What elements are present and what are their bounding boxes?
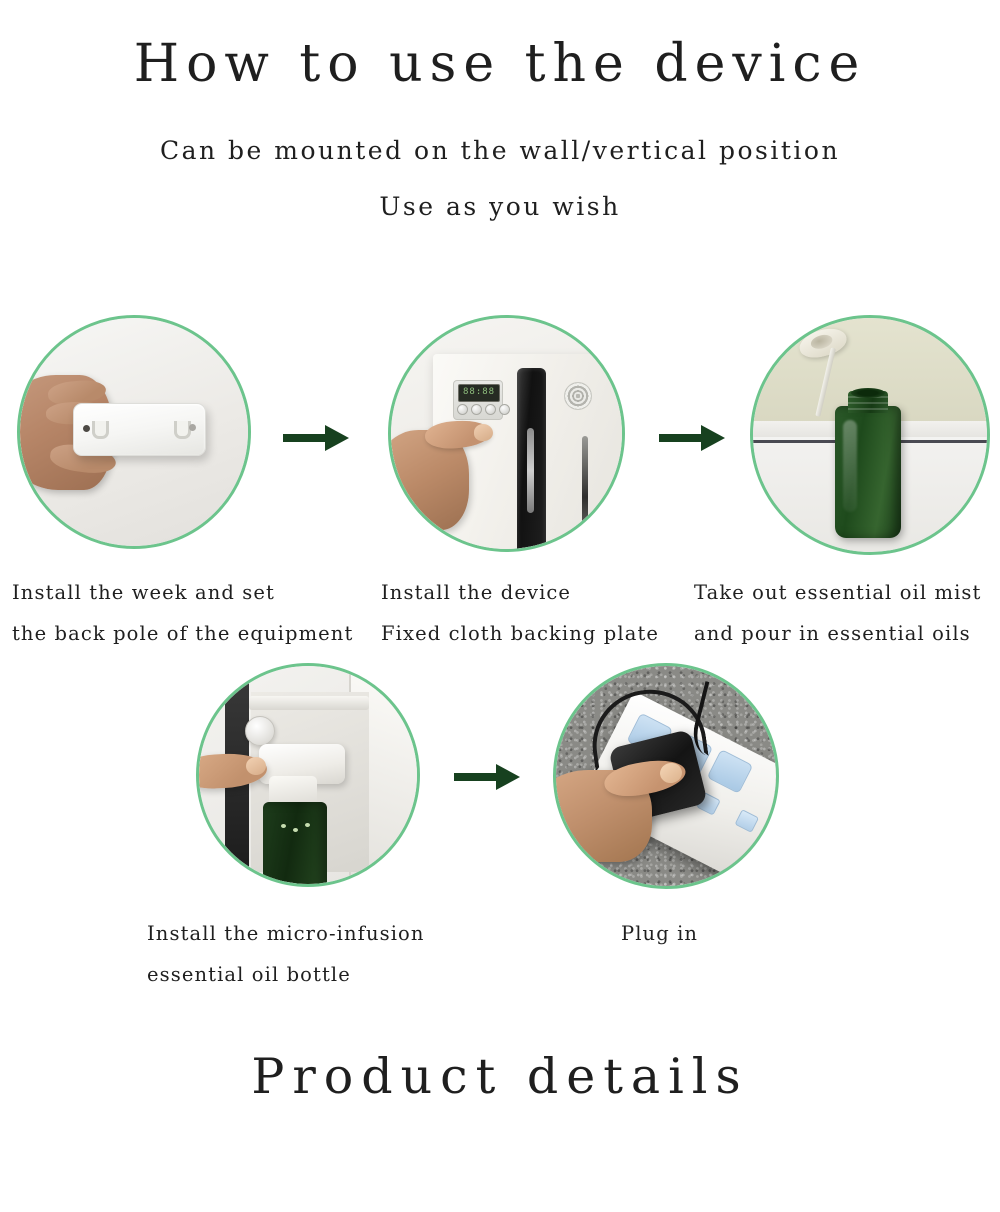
strip-slot — [527, 428, 534, 513]
locking-knob — [245, 716, 275, 746]
panel-button — [485, 404, 496, 415]
bottle-sparkle — [305, 823, 310, 827]
step-2-photo: 88:88 — [388, 315, 625, 552]
step-2-caption: Install the device Fixed cloth backing p… — [381, 572, 659, 654]
caption-line: Install the device — [381, 572, 659, 613]
step-4-photo — [196, 663, 420, 887]
step-4-caption: Install the micro-infusion essential oil… — [147, 913, 425, 995]
caption-line: essential oil bottle — [147, 954, 425, 995]
bottle-mouth — [851, 388, 885, 398]
step-arrow-1-icon — [281, 418, 351, 462]
step-arrow-2-icon — [657, 418, 727, 462]
subtitle-line-2: Use as you wish — [0, 192, 1000, 221]
essential-oil-bottle — [835, 406, 901, 538]
micro-infusion-bottle — [263, 802, 327, 884]
backplate-screw — [189, 424, 196, 431]
caption-line: Plug in — [621, 913, 698, 954]
socket-switch — [734, 809, 759, 833]
step-1-photo — [17, 315, 251, 549]
panel-button — [499, 404, 510, 415]
backplate-hook — [92, 421, 109, 439]
neck-thread — [848, 408, 888, 410]
black-front-strip — [517, 368, 546, 549]
bottle-highlight — [843, 420, 857, 512]
neck-thread — [848, 402, 888, 404]
caption-line: Install the micro-infusion — [147, 913, 425, 954]
button-row — [457, 404, 510, 415]
panel-button — [457, 404, 468, 415]
fingernail-shape — [246, 757, 266, 775]
step-4-photo-inner — [199, 666, 417, 884]
bottle-sparkle — [281, 824, 286, 828]
page-title: How to use the device — [0, 34, 1000, 94]
step-arrow-3-icon — [452, 757, 522, 801]
cavity-top-bar — [249, 696, 369, 710]
step-5-photo-inner — [556, 666, 776, 886]
fingernail-shape — [474, 424, 493, 441]
section-title: Product details — [0, 1048, 1000, 1105]
bottle-sparkle — [293, 828, 298, 832]
caption-line: Fixed cloth backing plate — [381, 613, 659, 654]
panel-button — [471, 404, 482, 415]
control-panel: 88:88 — [453, 380, 503, 420]
step-3-photo — [750, 315, 990, 555]
caption-line: Take out essential oil mist — [694, 572, 981, 613]
caption-line: the back pole of the equipment — [12, 613, 353, 654]
subtitle-line-1: Can be mounted on the wall/vertical posi… — [0, 136, 1000, 165]
step-1-photo-inner — [20, 318, 248, 546]
backplate-hook — [174, 421, 191, 439]
mounting-backplate — [73, 403, 206, 456]
side-vent-slot — [582, 436, 588, 549]
speaker-grille-icon — [564, 382, 592, 410]
step-1-caption: Install the week and set the back pole o… — [12, 572, 353, 654]
step-3-photo-inner — [753, 318, 987, 552]
step-2-photo-inner: 88:88 — [391, 318, 622, 549]
caption-line: Install the week and set — [12, 572, 353, 613]
step-5-caption: Plug in — [621, 913, 698, 954]
backplate-screw — [83, 425, 90, 432]
lcd-readout: 88:88 — [463, 387, 495, 398]
lcd-display: 88:88 — [458, 384, 500, 402]
step-3-caption: Take out essential oil mist and pour in … — [694, 572, 981, 654]
step-5-photo — [553, 663, 779, 889]
caption-line: and pour in essential oils — [694, 613, 981, 654]
